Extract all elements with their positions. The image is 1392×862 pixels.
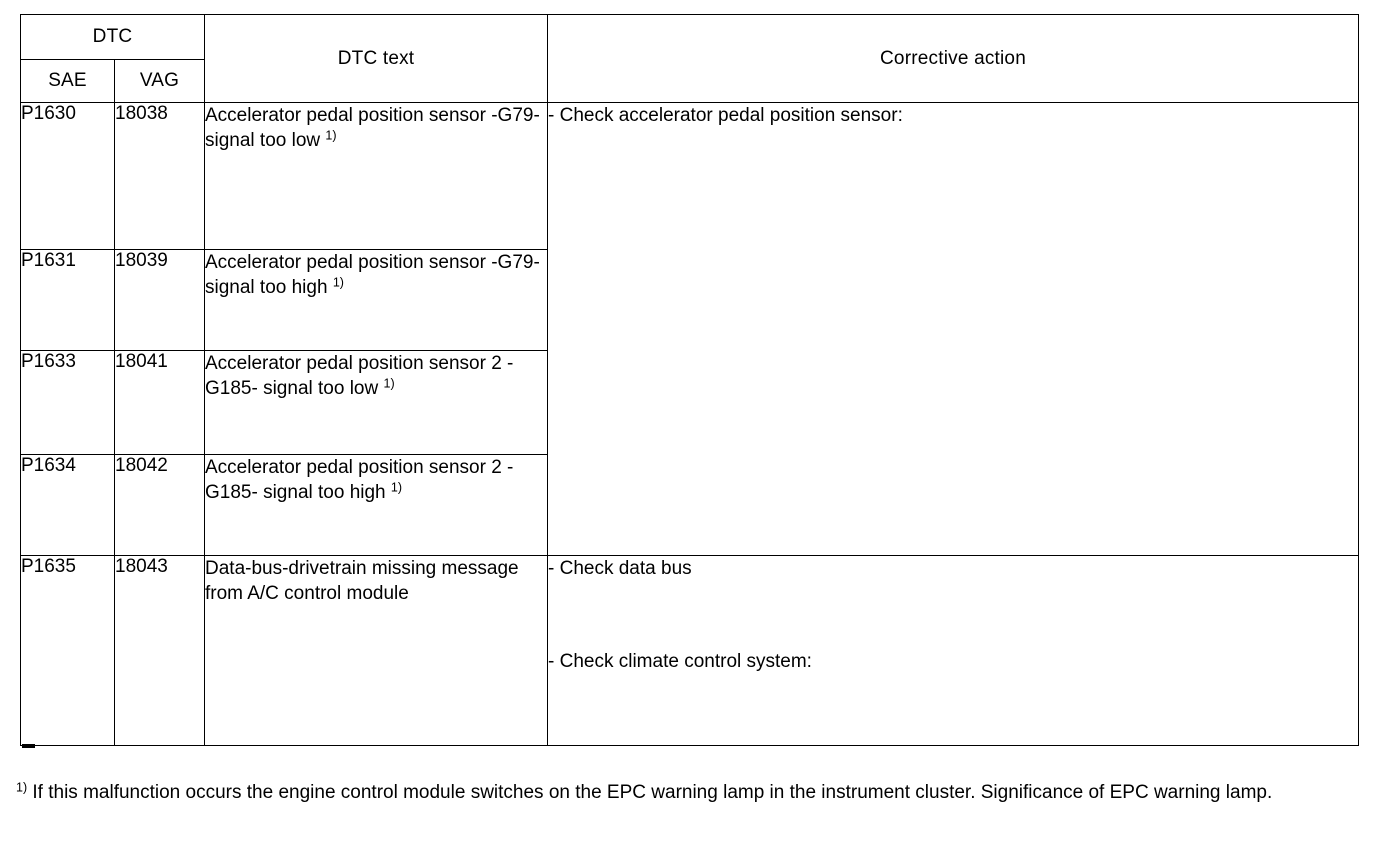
table-corner-tick-mark xyxy=(22,744,35,748)
cell-dtc-text: Data-bus-drivetrain missing message from… xyxy=(205,556,548,746)
cell-corrective-action-group-1: - Check accelerator pedal position senso… xyxy=(548,103,1359,556)
footnote-marker: 1) xyxy=(325,129,336,143)
dtc-text-body: Data-bus-drivetrain missing message from… xyxy=(205,558,519,604)
cell-vag-code: 18041 xyxy=(115,351,205,455)
cell-corrective-action-group-2: - Check data bus - Check climate control… xyxy=(548,556,1359,746)
dtc-text-body: Accelerator pedal position sensor -G79- … xyxy=(205,105,540,151)
table-row: P1635 18043 Data-bus-drivetrain missing … xyxy=(21,556,1359,746)
footnote: 1) If this malfunction occurs the engine… xyxy=(16,780,1356,807)
cell-vag-code: 18043 xyxy=(115,556,205,746)
cell-sae-code: P1635 xyxy=(21,556,115,746)
header-sae-label: SAE xyxy=(21,60,114,102)
footnote-marker: 1) xyxy=(333,276,344,290)
document-page: DTC DTC text Corrective action SAE VAG P… xyxy=(0,0,1392,862)
cell-sae-code: P1634 xyxy=(21,455,115,556)
header-corrective-action-label: Corrective action xyxy=(548,15,1358,102)
cell-vag-code: 18039 xyxy=(115,250,205,351)
header-sae: SAE xyxy=(21,60,115,103)
corrective-action-item: - Check climate control system: xyxy=(548,649,1358,674)
header-vag-label: VAG xyxy=(115,60,204,102)
header-corrective-action: Corrective action xyxy=(548,15,1359,103)
cell-dtc-text: Accelerator pedal position sensor -G79- … xyxy=(205,103,548,250)
footnote-marker: 1) xyxy=(391,481,402,495)
dtc-text-body: Accelerator pedal position sensor 2 -G18… xyxy=(205,353,513,399)
cell-vag-code: 18042 xyxy=(115,455,205,556)
header-vag: VAG xyxy=(115,60,205,103)
header-dtc-text-label: DTC text xyxy=(205,15,547,102)
header-dtc-group-label: DTC xyxy=(21,15,204,59)
cell-dtc-text: Accelerator pedal position sensor 2 -G18… xyxy=(205,455,548,556)
header-dtc-text: DTC text xyxy=(205,15,548,103)
cell-dtc-text: Accelerator pedal position sensor 2 -G18… xyxy=(205,351,548,455)
footnote-marker: 1) xyxy=(16,781,27,795)
footnote-text: If this malfunction occurs the engine co… xyxy=(27,782,1272,803)
corrective-action-item: - Check accelerator pedal position senso… xyxy=(548,103,1358,128)
dtc-text-body: Accelerator pedal position sensor 2 -G18… xyxy=(205,457,513,503)
cell-sae-code: P1631 xyxy=(21,250,115,351)
dtc-text-body: Accelerator pedal position sensor -G79- … xyxy=(205,252,540,298)
table-header-row-group: DTC DTC text Corrective action xyxy=(21,15,1359,60)
cell-sae-code: P1633 xyxy=(21,351,115,455)
corrective-action-item: - Check data bus xyxy=(548,556,1358,581)
header-dtc-group: DTC xyxy=(21,15,205,60)
dtc-table: DTC DTC text Corrective action SAE VAG P… xyxy=(20,14,1359,746)
cell-vag-code: 18038 xyxy=(115,103,205,250)
footnote-marker: 1) xyxy=(384,377,395,391)
cell-dtc-text: Accelerator pedal position sensor -G79- … xyxy=(205,250,548,351)
table-row: P1630 18038 Accelerator pedal position s… xyxy=(21,103,1359,250)
cell-sae-code: P1630 xyxy=(21,103,115,250)
